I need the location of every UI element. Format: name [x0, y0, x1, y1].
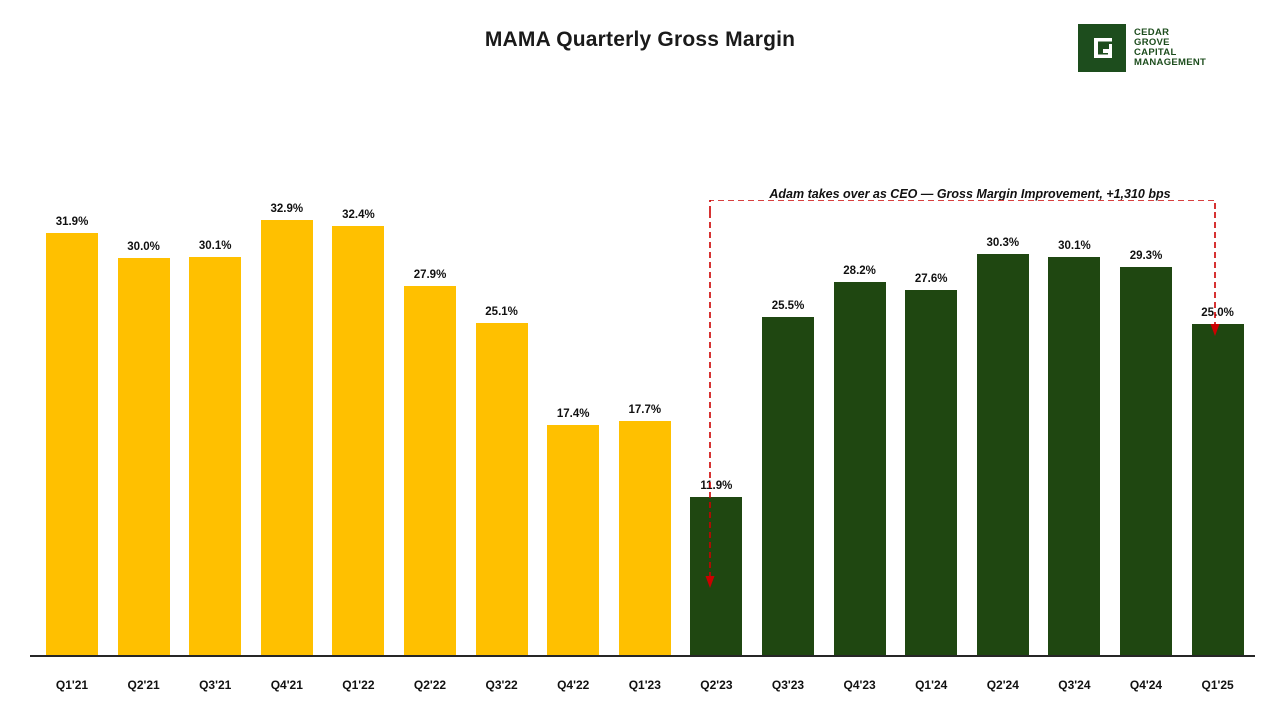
bar[interactable]: [189, 257, 241, 655]
bar[interactable]: [118, 258, 170, 655]
bar[interactable]: [690, 497, 742, 655]
bar[interactable]: [547, 425, 599, 655]
bar[interactable]: [905, 290, 957, 655]
bar[interactable]: [46, 233, 98, 655]
annotation-label: Adam takes over as CEO — Gross Margin Im…: [700, 187, 1240, 201]
bar-value-label: 25.0%: [1176, 307, 1260, 319]
bar[interactable]: [404, 286, 456, 655]
bar[interactable]: [1048, 257, 1100, 655]
bar-group: 25.0%Q1'25: [1176, 0, 1260, 720]
bar[interactable]: [261, 220, 313, 655]
bar[interactable]: [1192, 324, 1244, 655]
bar[interactable]: [834, 282, 886, 655]
bar[interactable]: [476, 323, 528, 655]
bar[interactable]: [1120, 267, 1172, 655]
bar[interactable]: [977, 254, 1029, 655]
slide-canvas: MAMA Quarterly Gross Margin CEDAR GROVE …: [0, 0, 1280, 720]
bar[interactable]: [762, 317, 814, 655]
x-axis-category-label: Q1'25: [1176, 678, 1260, 692]
bar-chart: 31.9%Q1'2130.0%Q2'2130.1%Q3'2132.9%Q4'21…: [0, 0, 1280, 720]
bar[interactable]: [619, 421, 671, 655]
bar[interactable]: [332, 226, 384, 655]
bar-wrapper: [1176, 324, 1260, 655]
